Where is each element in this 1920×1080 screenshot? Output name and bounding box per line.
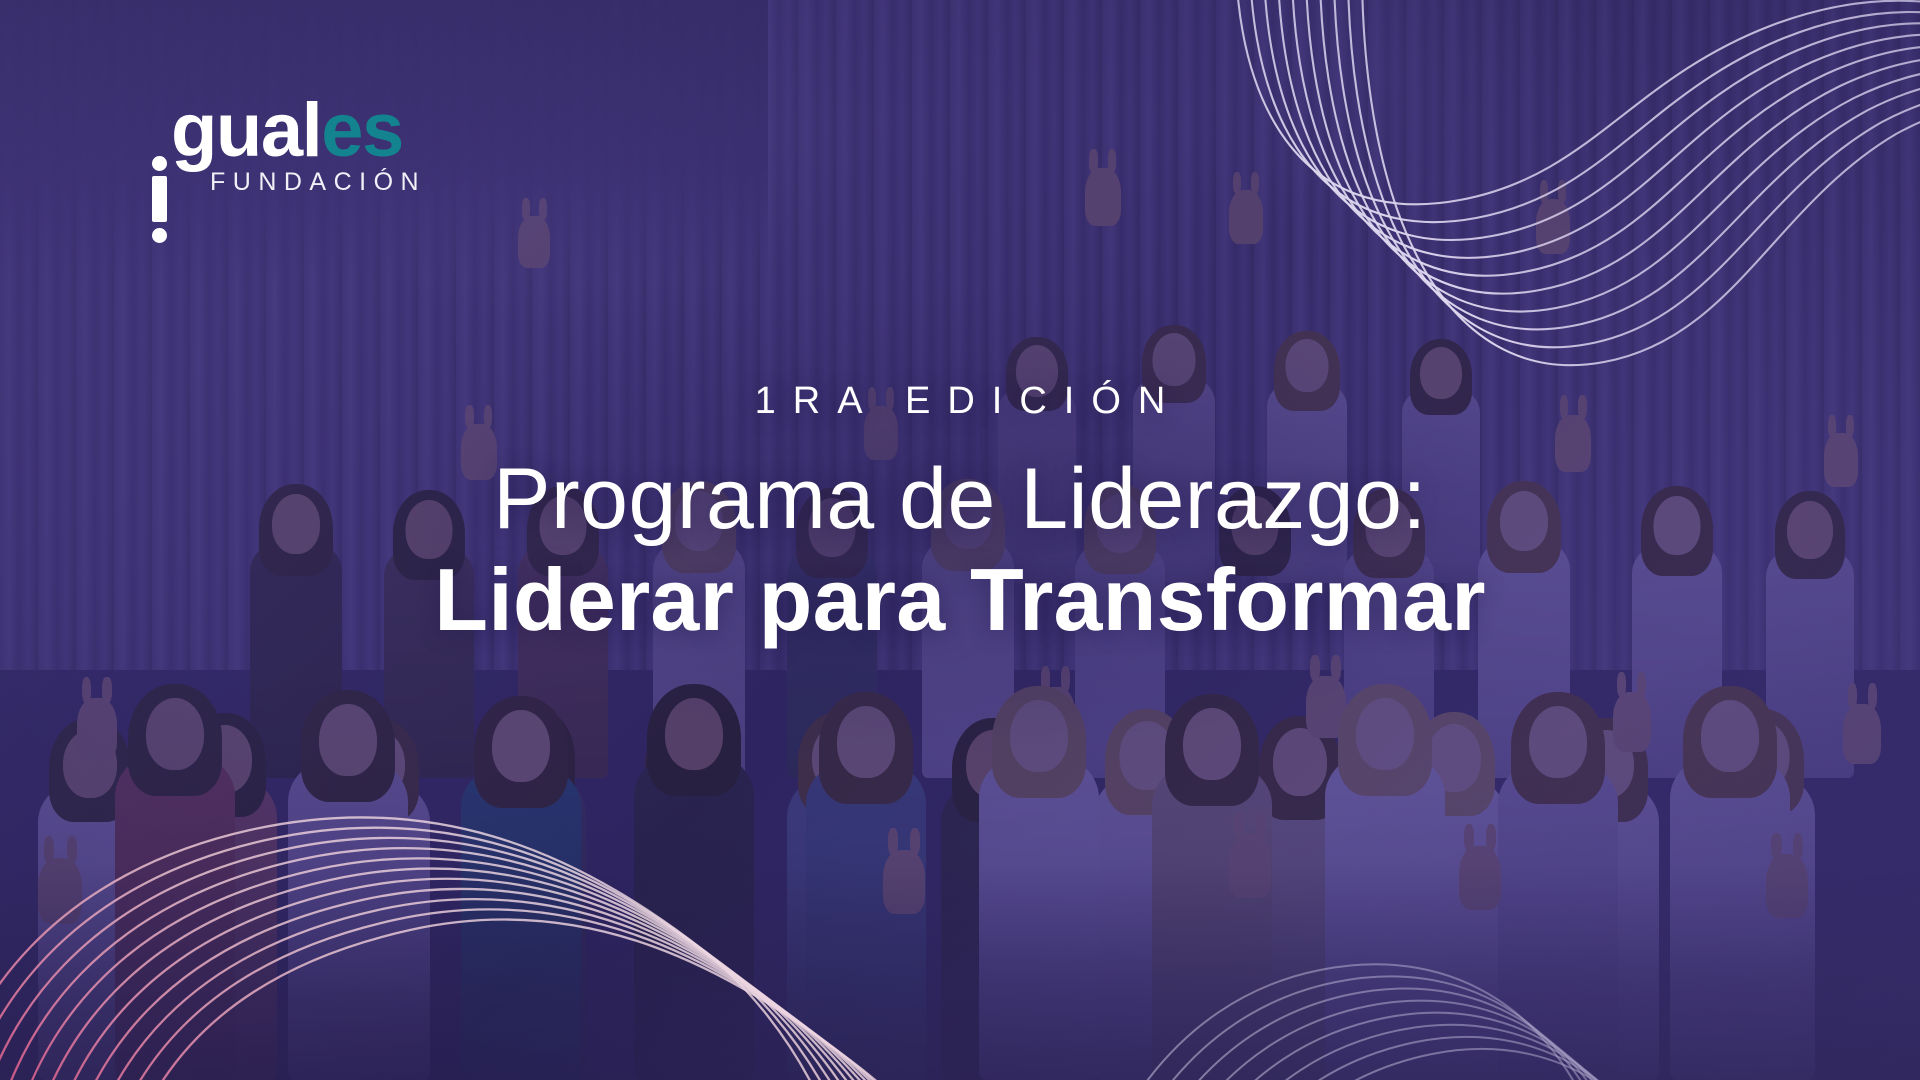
- logo-i-stem: [152, 176, 167, 222]
- logo-i-dot-top: [152, 156, 167, 171]
- logo-wordmark: gual es: [152, 96, 442, 166]
- hero-text-block: 1RA EDICIÓN Programa de Liderazgo: Lider…: [0, 382, 1920, 650]
- hero-banner: gual es FUNDACIÓN 1RA EDICIÓN Programa d…: [0, 0, 1920, 1080]
- hero-title-line-2: Liderar para Transformar: [0, 551, 1920, 650]
- logo-word-accent: es: [321, 96, 403, 166]
- hero-title-line-1: Programa de Liderazgo:: [0, 454, 1920, 545]
- logo-word-middle: gual: [171, 96, 321, 166]
- logo-i-dot-bottom: [152, 228, 167, 243]
- hero-eyebrow: 1RA EDICIÓN: [0, 382, 1920, 420]
- logo-subtitle: FUNDACIÓN: [210, 168, 442, 197]
- iguales-fundacion-logo[interactable]: gual es FUNDACIÓN: [152, 96, 442, 197]
